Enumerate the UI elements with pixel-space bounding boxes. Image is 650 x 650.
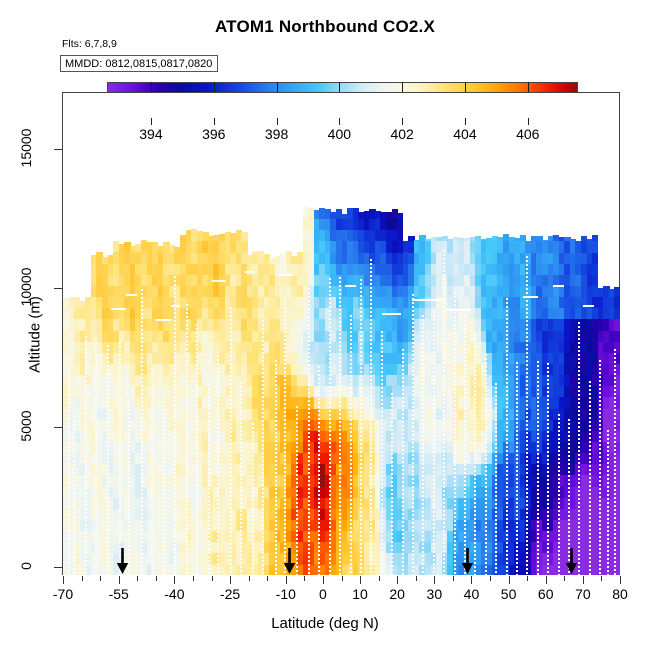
flight-track — [381, 331, 383, 575]
colorbar-tick-label: 400 — [328, 126, 351, 142]
heatmap-cell — [614, 308, 620, 320]
x-axis-minor-tick — [249, 576, 250, 581]
x-axis-tick-label: 70 — [575, 586, 591, 602]
heatmap-cell — [592, 274, 598, 286]
flight-track — [284, 299, 286, 575]
flight-track — [558, 414, 560, 575]
flight-track — [95, 338, 97, 575]
x-axis-minor-tick — [416, 576, 417, 581]
flight-track — [454, 292, 456, 575]
flight-track — [412, 294, 414, 575]
colorbar-tick — [402, 118, 403, 125]
x-axis-minor-tick — [601, 576, 602, 581]
heatmap-cell — [397, 230, 403, 242]
flight-level-leg — [345, 285, 356, 287]
flight-level-leg — [445, 309, 471, 311]
flight-track — [391, 393, 393, 575]
x-axis-tick-label: 60 — [538, 586, 554, 602]
x-axis-minor-tick — [82, 576, 83, 581]
flight-track — [208, 384, 210, 575]
flight-track — [422, 315, 424, 575]
colorbar-tick-label: 396 — [202, 126, 225, 142]
colorbar-tick-label: 406 — [516, 126, 539, 142]
flight-track — [68, 370, 70, 575]
flight-level-leg — [156, 319, 171, 321]
heatmap-cell — [397, 218, 403, 230]
x-axis-tick — [546, 576, 547, 584]
x-axis-tick — [230, 576, 231, 584]
x-axis-minor-tick — [212, 576, 213, 581]
flights-label: Flts: 6,7,8,9 — [62, 38, 117, 50]
x-axis-minor-tick — [564, 576, 565, 581]
flight-track — [578, 322, 580, 575]
flight-track — [141, 289, 143, 575]
x-axis-tick-label: 20 — [389, 586, 405, 602]
colorbar-tick — [277, 118, 278, 125]
flight-track — [151, 368, 153, 575]
x-axis-minor-tick — [193, 576, 194, 581]
x-axis-tick-label: -70 — [53, 586, 73, 602]
flight-level-leg — [382, 313, 401, 315]
x-axis-minor-tick — [100, 576, 101, 581]
x-axis-tick — [323, 576, 324, 584]
x-axis-title: Latitude (deg N) — [0, 615, 650, 632]
x-axis-tick — [63, 576, 64, 584]
flight-track — [350, 315, 352, 575]
latitude-marker-arrow — [461, 548, 474, 574]
heatmap-cell — [592, 235, 598, 241]
x-axis-minor-tick — [490, 576, 491, 581]
colorbar-tick — [465, 118, 466, 125]
flight-track — [526, 256, 528, 575]
colorbar-tick — [528, 118, 529, 125]
flight-track — [516, 362, 518, 575]
heatmap-cell — [258, 251, 264, 252]
flight-track — [308, 288, 310, 575]
flight-level-leg — [523, 296, 538, 298]
x-axis-minor-tick — [527, 576, 528, 581]
heatmap-cell — [614, 330, 620, 342]
x-axis-tick — [620, 576, 621, 584]
flight-level-leg — [76, 260, 81, 262]
flight-track — [433, 311, 435, 575]
y-axis-tick-label: 15000 — [18, 122, 34, 174]
page-title: ATOM1 Northbound CO2.X — [0, 17, 650, 37]
flight-track — [240, 382, 242, 575]
flight-level-leg — [126, 294, 136, 296]
y-axis-tick-label: 0 — [18, 540, 34, 592]
x-axis-tick-label: 40 — [464, 586, 480, 602]
flight-track — [495, 383, 497, 575]
heatmap-cell — [614, 287, 620, 297]
flight-track — [217, 351, 219, 575]
x-axis-minor-tick — [137, 576, 138, 581]
flight-track — [614, 349, 616, 575]
flight-track — [296, 406, 298, 575]
flight-level-leg — [278, 274, 293, 276]
y-axis-tick — [54, 427, 62, 428]
heatmap-cell — [592, 241, 598, 253]
flight-track — [275, 360, 277, 575]
flight-level-leg — [212, 280, 227, 282]
flight-track — [506, 298, 508, 575]
colorbar-tick-label: 394 — [139, 126, 162, 142]
flight-track — [339, 277, 341, 575]
flight-track — [329, 278, 331, 575]
flight-track — [230, 307, 232, 575]
x-axis-minor-tick — [453, 576, 454, 581]
x-axis-tick-label: -25 — [220, 586, 240, 602]
y-axis-tick — [54, 288, 62, 289]
heatmap-canvas — [63, 93, 620, 575]
flight-track — [547, 363, 549, 575]
x-axis-tick — [360, 576, 361, 584]
flight-track — [402, 349, 404, 575]
flight-track — [174, 276, 176, 575]
flight-track — [474, 334, 476, 575]
flight-track — [186, 304, 188, 575]
x-axis-tick — [174, 576, 175, 584]
colorbar-tick-label: 402 — [390, 126, 413, 142]
colorbar-tick — [339, 118, 340, 125]
flight-level-leg — [245, 271, 254, 273]
x-axis-minor-tick — [267, 576, 268, 581]
figure-root: ATOM1 Northbound CO2.X Flts: 6,7,8,9 MMD… — [0, 0, 650, 650]
x-axis-minor-tick — [304, 576, 305, 581]
flight-track — [589, 381, 591, 575]
y-axis-tick — [54, 567, 62, 568]
x-axis-minor-tick — [342, 576, 343, 581]
colorbar-tick — [151, 118, 152, 125]
latitude-marker-arrow — [283, 548, 296, 574]
flight-track — [599, 360, 601, 575]
heatmap-cell — [614, 319, 620, 331]
x-axis-tick — [583, 576, 584, 584]
x-axis-minor-tick — [156, 576, 157, 581]
heatmap-cell — [614, 296, 620, 308]
flight-level-leg — [111, 308, 126, 310]
x-axis-tick-label: -55 — [109, 586, 129, 602]
latitude-marker-arrow — [565, 548, 578, 574]
x-axis-tick-label: 80 — [612, 586, 628, 602]
flight-level-leg — [171, 305, 180, 307]
heatmap-cell — [241, 232, 247, 241]
flight-level-leg — [67, 280, 77, 282]
flight-level-leg — [412, 299, 445, 301]
x-axis-tick-label: 50 — [501, 586, 517, 602]
x-axis-tick — [119, 576, 120, 584]
flight-track — [85, 336, 87, 575]
x-axis-tick-label: 30 — [427, 586, 443, 602]
flight-track — [163, 397, 165, 575]
flight-track — [360, 279, 362, 575]
flight-track — [107, 345, 109, 575]
heatmap-cell — [241, 241, 247, 253]
flight-track — [73, 416, 75, 575]
x-axis-tick — [397, 576, 398, 584]
flight-track — [252, 423, 254, 575]
x-axis-tick — [509, 576, 510, 584]
latitude-marker-arrow — [116, 548, 129, 574]
x-axis-tick — [434, 576, 435, 584]
flight-track — [370, 259, 372, 575]
heatmap-cell — [592, 252, 598, 264]
y-axis-title: Altitude (m) — [27, 255, 44, 415]
x-axis-minor-tick — [379, 576, 380, 581]
y-axis-tick — [54, 149, 62, 150]
colorbar-tick — [214, 118, 215, 125]
flight-track — [485, 354, 487, 575]
x-axis-tick — [471, 576, 472, 584]
x-axis-tick-label: 10 — [352, 586, 368, 602]
x-axis-tick-label: 0 — [319, 586, 327, 602]
heatmap-cell — [286, 251, 292, 252]
x-axis-tick-label: -10 — [276, 586, 296, 602]
flight-track — [464, 316, 466, 575]
heatmap-cell — [592, 263, 598, 275]
flight-track — [262, 320, 264, 575]
flight-track — [196, 324, 198, 575]
x-axis-tick — [286, 576, 287, 584]
flight-track — [119, 342, 121, 575]
flight-track — [318, 366, 320, 575]
heatmap-cell — [397, 213, 403, 219]
flight-level-leg — [583, 305, 594, 307]
flight-track — [607, 430, 609, 575]
x-axis-tick-label: -40 — [164, 586, 184, 602]
flight-track — [537, 361, 539, 575]
flight-level-leg — [553, 285, 564, 287]
dates-box: MMDD: 0812,0815,0817,0820 — [60, 55, 218, 72]
colorbar-tick-label: 398 — [265, 126, 288, 142]
colorbar-tick-label: 404 — [453, 126, 476, 142]
